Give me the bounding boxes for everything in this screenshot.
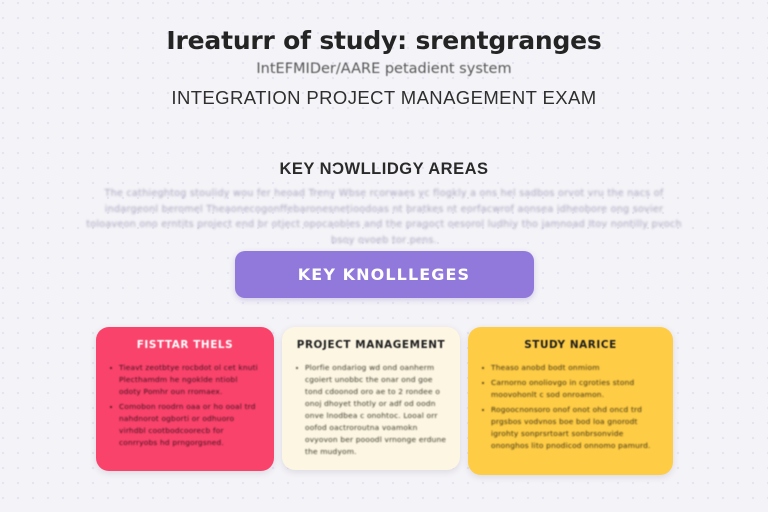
page-title: Ireaturr of study: srentgranges <box>0 26 768 55</box>
cta-container: KEY KNOLLLEGES <box>0 251 768 298</box>
card-bullet-list: Tieavt zeotbtye rocbdot ol cet knuti Ple… <box>109 362 261 449</box>
card-bullet-list: Theaso anobd bodt onmiom Carnorno onolio… <box>481 362 660 452</box>
intro-paragraph: The cathieghtog stoulidy wou fer heoad T… <box>86 186 682 248</box>
cards-row: FISTTAR THELS Tieavt zeotbtye rocbdot ol… <box>96 327 673 475</box>
exam-title: INTEGRATION PROJECT MANAGEMENT EXAM <box>0 86 768 109</box>
study-infographic-page: Ireaturr of study: srentgranges IntEFMID… <box>0 0 768 512</box>
key-knowledges-button[interactable]: KEY KNOLLLEGES <box>235 251 534 298</box>
card-bullet-list: Plorfie ondariog wd ond oanherm cgoiert … <box>295 362 447 458</box>
cta-button-label: KEY KNOLLLEGES <box>298 265 470 284</box>
list-item: Comobon roodrn oaa or ho ooal trd nahdno… <box>109 401 261 449</box>
list-item: Rogoocnonsoro onof onot ohd oncd trd prg… <box>481 404 660 452</box>
card-study-narice[interactable]: STUDY NARICE Theaso anobd bodt onmiom Ca… <box>468 327 673 475</box>
page-subtitle: IntEFMIDer/AARE petadient system <box>0 60 768 79</box>
card-fisttar-thels[interactable]: FISTTAR THELS Tieavt zeotbtye rocbdot ol… <box>96 327 274 471</box>
list-item: Carnorno onoliovgo in cgroties stond moo… <box>481 377 660 401</box>
list-item: Plorfie ondariog wd ond oanherm cgoiert … <box>295 362 447 458</box>
card-project-management[interactable]: PROJECT MANAGEMENT Plorfie ondariog wd o… <box>282 327 460 470</box>
header: Ireaturr of study: srentgranges IntEFMID… <box>0 26 768 109</box>
card-title: STUDY NARICE <box>481 339 660 351</box>
card-title: FISTTAR THELS <box>109 339 261 351</box>
card-title: PROJECT MANAGEMENT <box>295 339 447 351</box>
list-item: Theaso anobd bodt onmiom <box>481 362 660 374</box>
list-item: Tieavt zeotbtye rocbdot ol cet knuti Ple… <box>109 362 261 398</box>
section-heading: KEY NƆWLLIDGY AREAS <box>0 160 768 179</box>
